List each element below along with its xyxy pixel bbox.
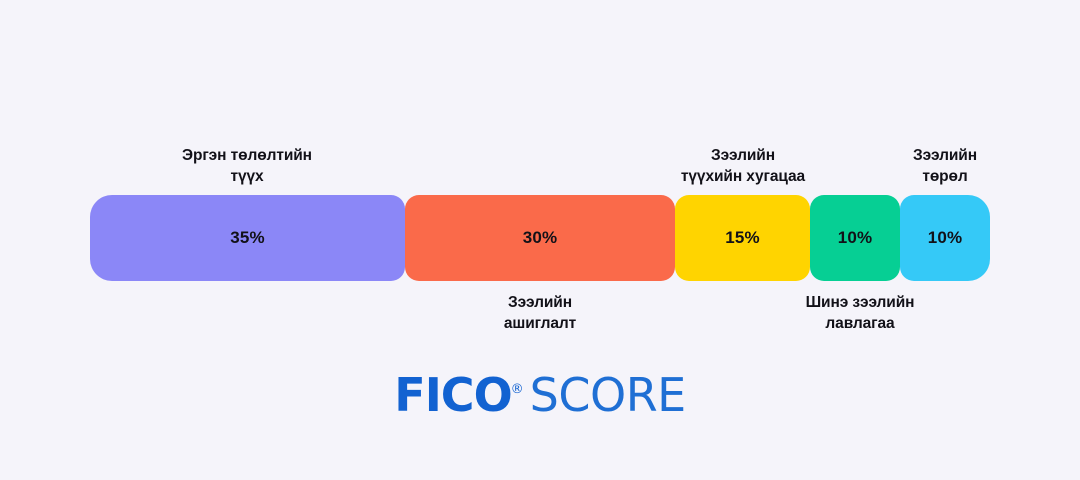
bar-segment-credit-history-length[interactable]: 15% — [675, 195, 810, 281]
score-composition-bar: 35% 30% 15% 10% 10% — [90, 195, 990, 281]
bar-segment-credit-mix[interactable]: 10% — [900, 195, 990, 281]
segment-label-payment-history: Эргэн төлөлтийн түүх — [90, 145, 404, 187]
bar-segment-new-credit-inquiries[interactable]: 10% — [810, 195, 900, 281]
segment-value-label: 35% — [230, 228, 265, 248]
segment-value-label: 10% — [928, 228, 963, 248]
bar-segment-credit-utilization[interactable]: 30% — [405, 195, 675, 281]
segment-label-new-credit-inquiries: Шинэ зээлийн лавлагаа — [765, 292, 955, 334]
segment-value-label: 15% — [725, 228, 760, 248]
fico-score-breakdown-infographic: 35% 30% 15% 10% 10% Эргэн төлөлтийн түүх… — [0, 0, 1080, 480]
segment-label-credit-history-length: Зээлийн түүхийн хугацаа — [633, 145, 853, 187]
segment-value-label: 10% — [838, 228, 873, 248]
registered-trademark-icon: ® — [511, 382, 524, 397]
segment-value-label: 30% — [523, 228, 558, 248]
fico-score-logo: FICO®SCORE — [0, 372, 1080, 418]
logo-brand-text: FICO — [394, 368, 511, 422]
logo-product-text: SCORE — [530, 368, 686, 422]
segment-label-credit-utilization: Зээлийн ашиглалт — [404, 292, 676, 334]
bar-segment-payment-history[interactable]: 35% — [90, 195, 405, 281]
segment-label-credit-mix: Зээлийн төрөл — [880, 145, 1010, 187]
